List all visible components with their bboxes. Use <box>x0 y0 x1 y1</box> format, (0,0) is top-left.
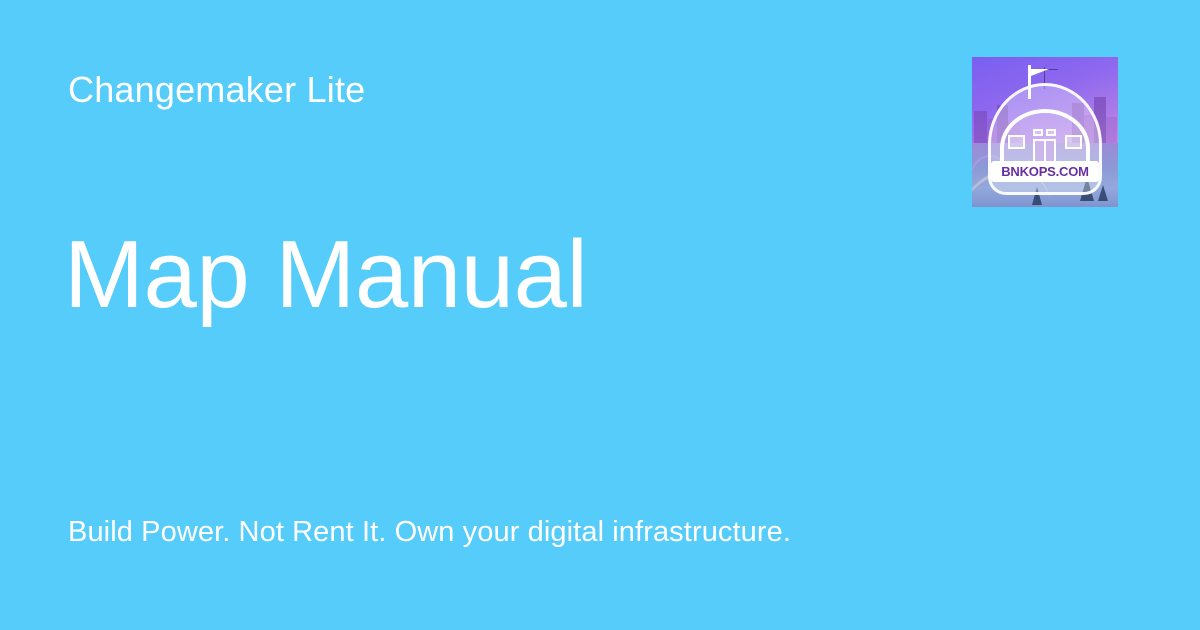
transom-window-icon <box>1046 129 1056 136</box>
window-icon <box>1008 135 1025 149</box>
flag-icon <box>1031 69 1049 83</box>
product-eyebrow: Changemaker Lite <box>68 68 365 111</box>
tagline: Build Power. Not Rent It. Own your digit… <box>68 514 791 552</box>
logo-wordmark-banner: BNKOPS.COM <box>991 161 1099 182</box>
bnkops-logo[interactable]: BNKOPS.COM <box>972 57 1118 207</box>
door-divider-icon <box>1044 139 1046 163</box>
window-icon <box>1065 135 1082 149</box>
transom-window-icon <box>1033 129 1043 136</box>
social-card-banner: Changemaker Lite Map Manual Build Power.… <box>0 0 1200 630</box>
page-title: Map Manual <box>64 222 587 328</box>
tree-icon <box>1098 185 1108 201</box>
logo-wordmark-text: BNKOPS.COM <box>1001 165 1089 178</box>
